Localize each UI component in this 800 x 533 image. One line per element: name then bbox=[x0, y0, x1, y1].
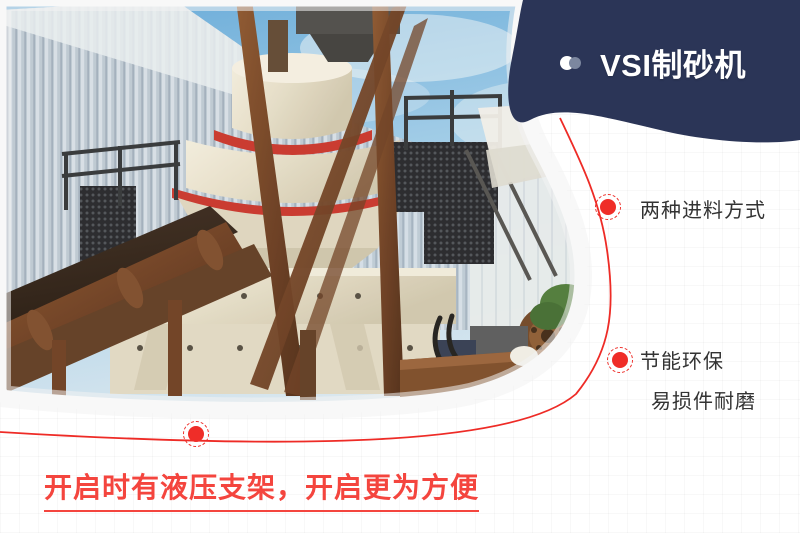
banner-title-block: VSI制砂机 bbox=[560, 40, 746, 85]
two-tone-dot-icon bbox=[560, 56, 586, 70]
feature-marker-2-icon bbox=[607, 347, 633, 373]
page-title: VSI制砂机 bbox=[600, 40, 746, 85]
feature-label-2: 节能环保 bbox=[640, 345, 724, 374]
bottom-caption: 开启时有液压支架，开启更为方便 bbox=[44, 466, 479, 512]
feature-label-3: 易损件耐磨 bbox=[651, 385, 756, 414]
feature-marker-1-icon bbox=[595, 194, 621, 220]
feature-label-1: 两种进料方式 bbox=[640, 194, 766, 223]
caption-marker-icon bbox=[183, 421, 209, 447]
poster-canvas: VSI制砂机 两种进料方式 节能环保 易损件耐磨 开启时有液压支架，开启更为方便 bbox=[0, 0, 800, 533]
